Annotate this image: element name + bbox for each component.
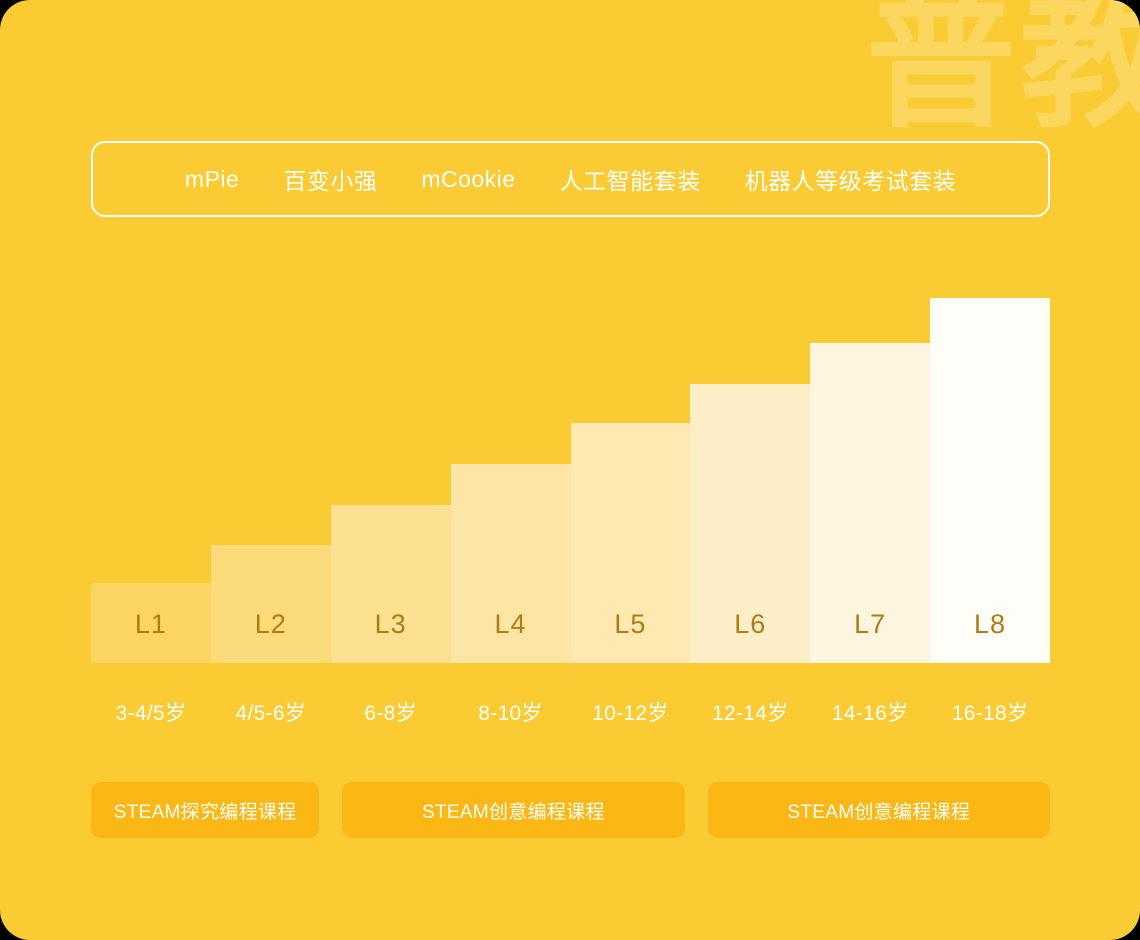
bar-l5: L5 xyxy=(571,423,691,663)
bar-label: L7 xyxy=(854,609,886,640)
nav-item[interactable]: 百变小强 xyxy=(261,162,399,196)
nav-item[interactable]: 机器人等级考试套装 xyxy=(723,162,979,196)
age-range-label: 8-10岁 xyxy=(451,697,571,727)
bar-l4: L4 xyxy=(451,464,571,663)
bar-label: L1 xyxy=(135,609,167,640)
course-pill[interactable]: STEAM创意编程课程 xyxy=(708,782,1050,838)
age-range-label: 12-14岁 xyxy=(690,697,810,727)
age-range-label: 6-8岁 xyxy=(331,697,451,727)
course-pill[interactable]: STEAM探究编程课程 xyxy=(91,782,319,838)
nav-item[interactable]: mPie xyxy=(163,166,261,193)
bar-label: L3 xyxy=(375,609,407,640)
age-range-label: 14-16岁 xyxy=(810,697,930,727)
course-pill[interactable]: STEAM创意编程课程 xyxy=(342,782,684,838)
bar-label: L4 xyxy=(495,609,527,640)
level-bar-chart: L1L2L3L4L5L6L7L8 xyxy=(91,298,1050,663)
bar-label: L6 xyxy=(734,609,766,640)
age-range-label: 3-4/5岁 xyxy=(91,697,211,727)
bar-l7: L7 xyxy=(810,343,930,663)
bar-l1: L1 xyxy=(91,583,211,663)
bar-label: L5 xyxy=(614,609,646,640)
watermark-text: 普教 xyxy=(866,0,1140,136)
age-range-row: 3-4/5岁4/5-6岁6-8岁8-10岁10-12岁12-14岁14-16岁1… xyxy=(91,697,1050,727)
bar-label: L8 xyxy=(974,609,1006,640)
bar-l6: L6 xyxy=(690,384,810,663)
age-range-label: 10-12岁 xyxy=(571,697,691,727)
bar-l8: L8 xyxy=(930,298,1050,663)
nav-item[interactable]: 人工智能套装 xyxy=(538,162,723,196)
bar-label: L2 xyxy=(255,609,287,640)
age-range-label: 4/5-6岁 xyxy=(211,697,331,727)
course-track-row: STEAM探究编程课程STEAM创意编程课程STEAM创意编程课程 xyxy=(91,782,1050,838)
infographic-card: 普教 mPie百变小强mCookie人工智能套装机器人等级考试套装 L1L2L3… xyxy=(0,0,1140,940)
age-range-label: 16-18岁 xyxy=(930,697,1050,727)
nav-item[interactable]: mCookie xyxy=(399,166,537,193)
bar-l2: L2 xyxy=(211,545,331,663)
product-nav-bar: mPie百变小强mCookie人工智能套装机器人等级考试套装 xyxy=(91,141,1050,217)
bar-l3: L3 xyxy=(331,505,451,663)
